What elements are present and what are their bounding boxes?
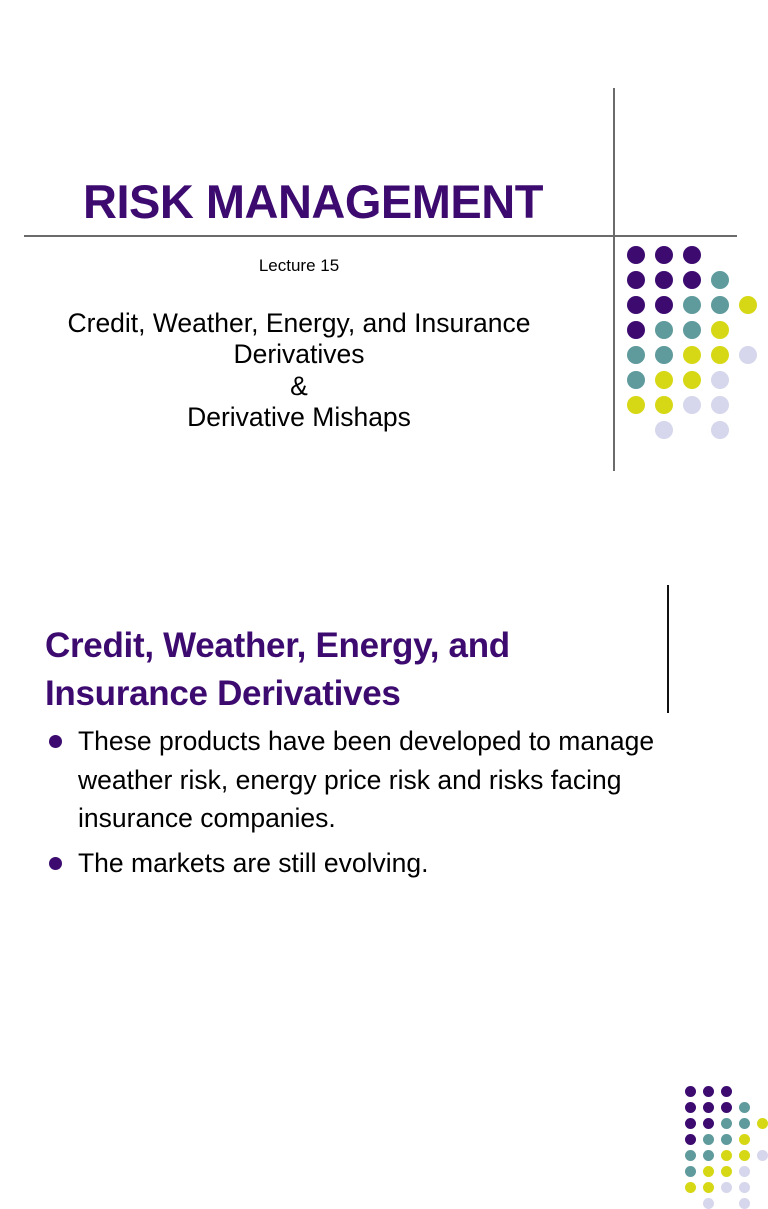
- dot-teal: [703, 1134, 714, 1145]
- dot-lavender: [739, 1166, 750, 1177]
- dot-lavender: [703, 1198, 714, 1209]
- dot-yellow: [721, 1166, 732, 1177]
- bullet-dot-icon: [49, 857, 62, 870]
- dot-teal: [683, 296, 701, 314]
- content-slide: Credit, Weather, Energy, and Insurance D…: [0, 500, 768, 1024]
- content-heading-line-2: Insurance Derivatives: [45, 670, 645, 718]
- dot-yellow: [711, 321, 729, 339]
- dot-teal: [627, 371, 645, 389]
- dot-yellow: [685, 1182, 696, 1193]
- dot-grid-decoration-icon: [627, 246, 767, 442]
- dot-teal: [683, 321, 701, 339]
- dot-yellow: [683, 346, 701, 364]
- dot-grid-decoration-icon: [685, 1086, 768, 1208]
- dot-lavender: [655, 421, 673, 439]
- subtitle-line-4: Derivative Mishaps: [14, 402, 584, 433]
- dot-purple: [721, 1086, 732, 1097]
- dot-yellow: [739, 1134, 750, 1145]
- dot-yellow: [627, 396, 645, 414]
- dot-lavender: [739, 346, 757, 364]
- dot-teal: [711, 271, 729, 289]
- dot-purple: [721, 1102, 732, 1113]
- dot-lavender: [739, 1182, 750, 1193]
- dot-yellow: [683, 371, 701, 389]
- page-title: RISK MANAGEMENT: [24, 177, 602, 226]
- list-item: These products have been developed to ma…: [40, 722, 720, 838]
- dot-purple: [627, 296, 645, 314]
- content-heading: Credit, Weather, Energy, and Insurance D…: [45, 622, 645, 719]
- list-item: The markets are still evolving.: [40, 844, 720, 883]
- dot-lavender: [683, 396, 701, 414]
- title-subtitle: Credit, Weather, Energy, and Insurance D…: [14, 308, 584, 433]
- dot-purple: [655, 271, 673, 289]
- dot-teal: [703, 1150, 714, 1161]
- dot-purple: [627, 321, 645, 339]
- dot-yellow: [655, 371, 673, 389]
- dot-purple: [627, 271, 645, 289]
- dot-purple: [685, 1102, 696, 1113]
- dot-teal: [711, 296, 729, 314]
- title-vertical-rule: [613, 88, 615, 471]
- bullet-dot-icon: [49, 735, 62, 748]
- bullet-list: These products have been developed to ma…: [40, 722, 720, 889]
- dot-teal: [721, 1134, 732, 1145]
- subtitle-line-2: Derivatives: [14, 339, 584, 370]
- dot-yellow: [711, 346, 729, 364]
- dot-purple: [655, 296, 673, 314]
- dot-purple: [685, 1134, 696, 1145]
- dot-lavender: [711, 371, 729, 389]
- dot-purple: [627, 246, 645, 264]
- dot-teal: [655, 346, 673, 364]
- dot-lavender: [739, 1198, 750, 1209]
- dot-lavender: [711, 421, 729, 439]
- dot-purple: [685, 1086, 696, 1097]
- content-heading-line-1: Credit, Weather, Energy, and: [45, 622, 645, 670]
- dot-yellow: [739, 1150, 750, 1161]
- lecture-number-label: Lecture 15: [24, 256, 574, 276]
- dot-lavender: [721, 1182, 732, 1193]
- dot-yellow: [739, 296, 757, 314]
- dot-teal: [627, 346, 645, 364]
- dot-purple: [655, 246, 673, 264]
- content-vertical-rule: [667, 585, 669, 713]
- dot-teal: [685, 1166, 696, 1177]
- dot-purple: [685, 1118, 696, 1129]
- dot-lavender: [711, 396, 729, 414]
- subtitle-line-3: &: [14, 371, 584, 402]
- dot-yellow: [721, 1150, 732, 1161]
- dot-purple: [703, 1102, 714, 1113]
- dot-teal: [655, 321, 673, 339]
- dot-purple: [683, 271, 701, 289]
- dot-purple: [703, 1086, 714, 1097]
- dot-yellow: [703, 1182, 714, 1193]
- list-item-label: These products have been developed to ma…: [78, 726, 654, 833]
- dot-purple: [683, 246, 701, 264]
- dot-teal: [739, 1102, 750, 1113]
- dot-purple: [703, 1118, 714, 1129]
- dot-yellow: [703, 1166, 714, 1177]
- dot-teal: [739, 1118, 750, 1129]
- dot-lavender: [757, 1150, 768, 1161]
- title-slide: RISK MANAGEMENT Lecture 15 Credit, Weath…: [0, 0, 768, 500]
- subtitle-line-1: Credit, Weather, Energy, and Insurance: [14, 308, 584, 339]
- dot-teal: [685, 1150, 696, 1161]
- dot-teal: [721, 1118, 732, 1129]
- list-item-label: The markets are still evolving.: [78, 848, 429, 878]
- dot-yellow: [655, 396, 673, 414]
- title-horizontal-rule: [24, 235, 737, 237]
- dot-yellow: [757, 1118, 768, 1129]
